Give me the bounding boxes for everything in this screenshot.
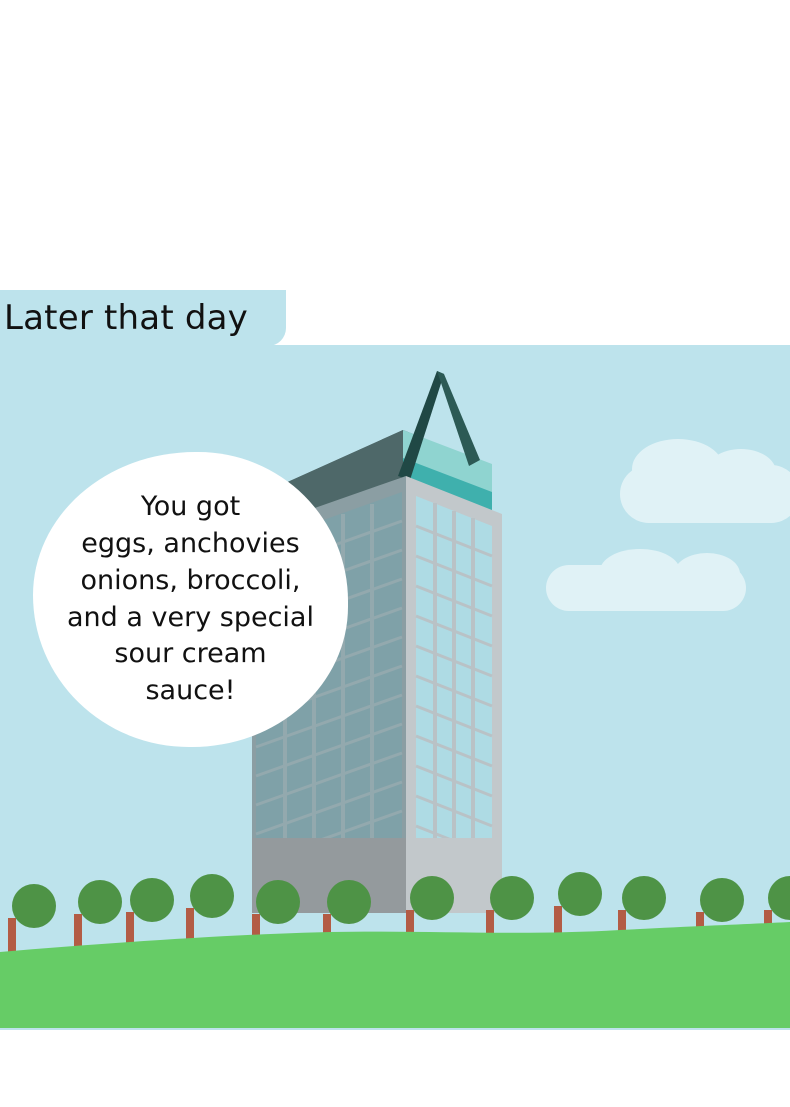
- speech-bubble-line: You got: [45, 489, 337, 526]
- tree-canopy-icon: [410, 876, 454, 920]
- speech-bubble-line: sauce!: [45, 673, 337, 710]
- tree-canopy-icon: [558, 872, 602, 916]
- grass-ground: [0, 918, 790, 1030]
- speech-bubble-text: You goteggs, anchoviesonions, broccoli,a…: [41, 489, 341, 709]
- caption-text: Later that day: [4, 301, 248, 335]
- caption-box: Later that day: [0, 290, 286, 346]
- speech-bubble-line: eggs, anchovies: [45, 526, 337, 563]
- tree-canopy-icon: [130, 878, 174, 922]
- cloud-lower: [546, 565, 746, 611]
- tree-canopy-icon: [700, 878, 744, 922]
- speech-bubble-line: and a very special: [45, 600, 337, 637]
- tree-canopy-icon: [490, 876, 534, 920]
- tree-canopy-icon: [622, 876, 666, 920]
- speech-bubble: You goteggs, anchoviesonions, broccoli,a…: [33, 452, 348, 747]
- comic-panel: Later that day You goteggs, anchoviesoni…: [0, 0, 790, 1107]
- tree-canopy-icon: [190, 874, 234, 918]
- speech-bubble-line: onions, broccoli,: [45, 563, 337, 600]
- speech-bubble-line: sour cream: [45, 636, 337, 673]
- cloud-upper: [620, 465, 790, 523]
